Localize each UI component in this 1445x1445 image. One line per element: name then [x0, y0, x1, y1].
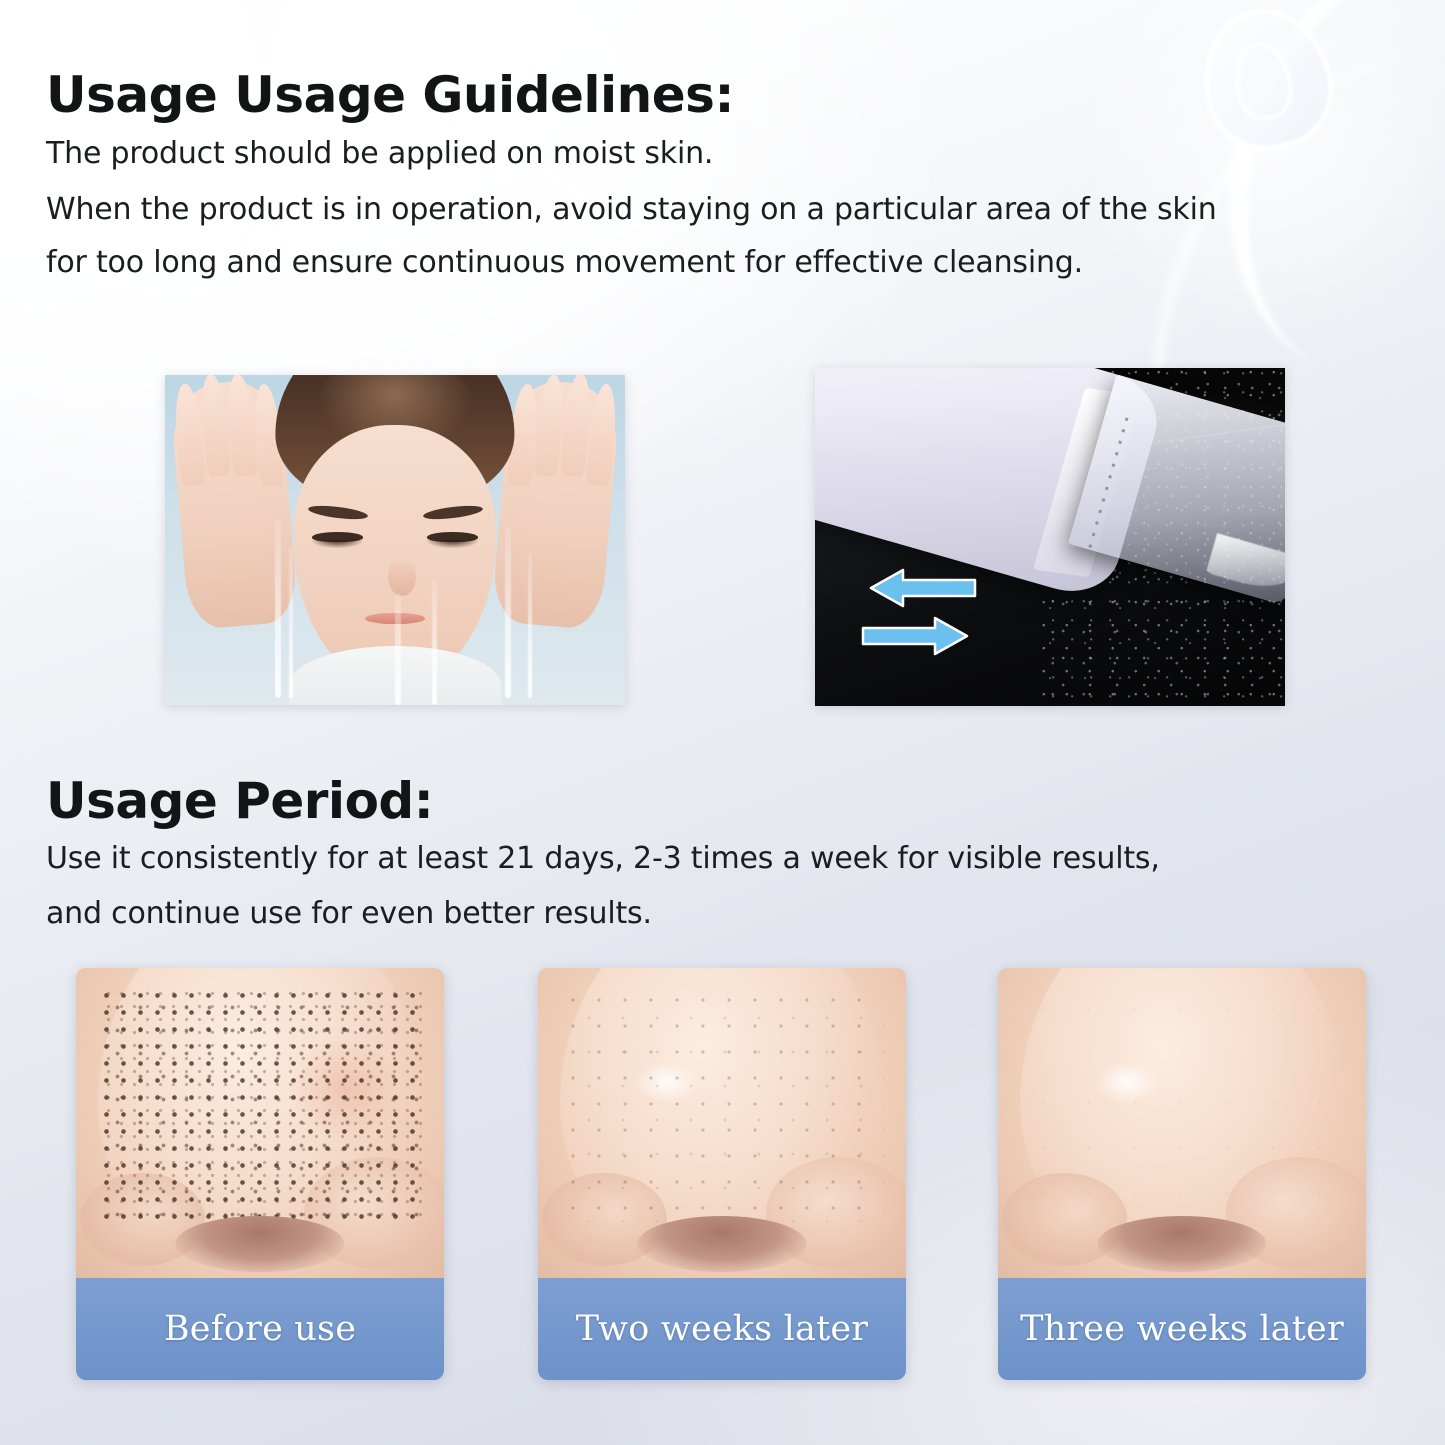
result-caption-label: Before use [164, 1309, 356, 1349]
result-caption-bar: Before use [76, 1278, 444, 1380]
result-card-three-weeks: Three weeks later [998, 968, 1366, 1380]
water-stream-icon [528, 553, 532, 698]
result-card-before-use: Before use [76, 968, 444, 1380]
finger [173, 382, 206, 486]
page-title-usage-period: Usage Period: [46, 772, 433, 830]
result-card-two-weeks: Two weeks later [538, 968, 906, 1380]
pore-texture [1020, 987, 1344, 1223]
nose-photo [998, 968, 1366, 1278]
eyelash-right [427, 540, 478, 548]
water-stream-icon [395, 593, 401, 705]
usage-period-line-2: and continue use for even better results… [46, 896, 652, 931]
finger [585, 382, 618, 486]
photo-woman-washing-face [165, 375, 625, 705]
result-caption-label: Three weeks later [1020, 1309, 1344, 1349]
nose-photo [538, 968, 906, 1278]
eyelash-left [312, 540, 363, 548]
nostril-shadow [637, 1216, 806, 1272]
result-caption-bar: Three weeks later [998, 1278, 1366, 1380]
nose [388, 557, 416, 597]
pore-texture [560, 987, 884, 1223]
water-stream-icon [275, 520, 281, 698]
water-stream-icon [505, 527, 511, 699]
water-stream-icon [432, 580, 437, 705]
wash-scene [165, 375, 625, 705]
motion-arrow-left-icon [869, 568, 977, 608]
usage-guidelines-line-2: When the product is in operation, avoid … [46, 192, 1217, 227]
photo-device-demonstration [815, 368, 1285, 706]
device-scene [815, 368, 1285, 706]
water-stream-icon [289, 547, 293, 699]
page-title-usage-guidelines: Usage Usage Guidelines: [46, 66, 734, 124]
nostril-shadow [175, 1216, 344, 1272]
nose-photo [76, 968, 444, 1278]
pore-texture [98, 987, 422, 1223]
result-caption-label: Two weeks later [576, 1309, 869, 1349]
usage-guidelines-line-1: The product should be applied on moist s… [46, 136, 713, 171]
nostril-shadow [1097, 1216, 1266, 1272]
result-caption-bar: Two weeks later [538, 1278, 906, 1380]
motion-arrow-right-icon [861, 616, 969, 656]
usage-period-line-1: Use it consistently for at least 21 days… [46, 841, 1160, 876]
page-content: Usage Usage Guidelines: The product shou… [0, 0, 1445, 1445]
usage-guidelines-line-3: for too long and ensure continuous movem… [46, 245, 1083, 280]
